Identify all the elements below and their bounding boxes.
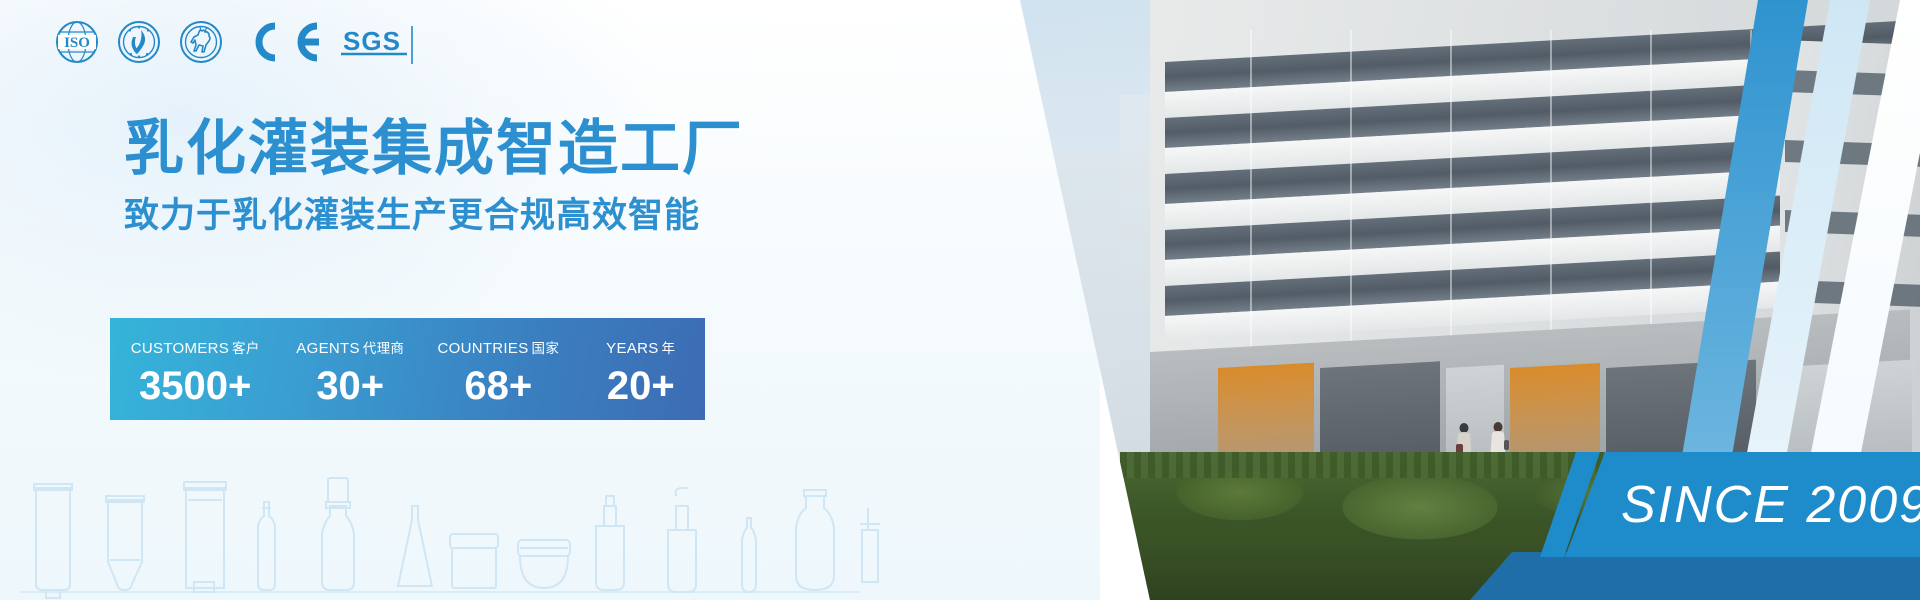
svg-text:ISO: ISO [64,35,90,51]
stat-label-en: YEARS [606,340,658,357]
facade-mullion [1450,30,1452,360]
silhouette-vial [742,518,756,592]
stat-value: 20+ [607,366,675,406]
certification-badges: ISO SGS [55,14,427,70]
stat-label-cn: 客户 [232,341,260,356]
since-banner-shadow [1470,552,1920,600]
stat-label: CUSTOMERS客户 [131,337,260,357]
silhouette-spray-bottle [596,496,624,590]
stat-label-cn: 国家 [532,341,560,356]
silhouette-jar-flat [450,534,498,588]
since-banner: SINCE 2009 [1565,452,1920,557]
stat-value: 68+ [464,366,532,406]
facade-mullion [1250,30,1252,360]
deer-badge-icon [179,20,223,64]
headline-block: 乳化灌装集成智造工厂 致力于乳化灌装生产更合规高效智能 [124,118,844,236]
stat-label-cn: 代理商 [363,341,404,356]
facade-mullion [1550,30,1552,360]
silhouette-tube-long [184,482,226,592]
stat-item-agents: AGENTS代理商 30+ [280,318,420,420]
silhouette-ampoule [258,502,275,590]
svg-text:SGS: SGS [343,26,401,56]
ce-mark-icon [245,22,323,62]
silhouette-round-bottle [796,490,834,590]
banner-title: 乳化灌装集成智造工厂 [124,118,844,181]
silhouette-tube-tall [34,484,72,598]
packaging-silhouettes [0,430,880,600]
stat-label: AGENTS代理商 [296,337,404,357]
facade-mullion [1650,30,1652,360]
stat-label-en: COUNTRIES [437,340,528,357]
stats-bar: CUSTOMERS客户 3500+ AGENTS代理商 30+ COUNTRIE… [110,318,705,420]
silhouette-tube-tapered [106,496,144,590]
silhouette-pump-bottle [668,488,696,592]
stat-label-cn: 年 [662,341,676,356]
silhouette-cream-jar [518,540,570,588]
stat-value: 3500+ [139,366,251,406]
silhouette-dropper-bottle [322,478,354,590]
banner-subtitle: 致力于乳化灌装生产更合规高效智能 [124,197,844,236]
facade-mullion [1350,30,1352,360]
silhouette-cone-bottle [398,506,432,586]
stat-item-years: YEARS年 20+ [577,318,706,420]
stat-label-en: AGENTS [296,340,359,357]
distant-building-2 [915,250,1025,490]
since-banner-label: SINCE 2009 [1621,475,1920,535]
stat-label: COUNTRIES国家 [437,337,559,357]
stat-item-countries: COUNTRIES国家 68+ [420,318,576,420]
sgs-badge-icon: SGS [341,20,427,64]
stat-label-en: CUSTOMERS [131,340,229,357]
gmp-badge-icon [117,20,161,64]
stat-label: YEARS年 [606,337,675,357]
iso-badge-icon: ISO [55,20,99,64]
stat-value: 30+ [316,366,384,406]
silhouette-syringe [860,508,880,582]
stat-item-customers: CUSTOMERS客户 3500+ [110,318,280,420]
promotional-banner: SINCE 2009 ISO [0,0,1920,600]
